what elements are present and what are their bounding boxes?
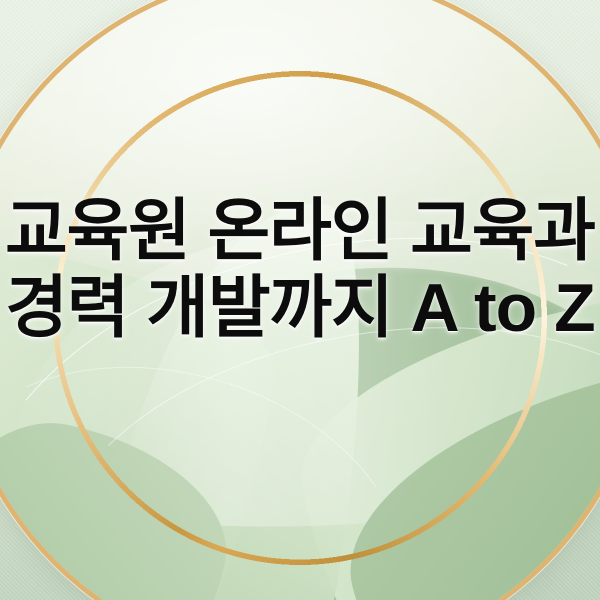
filament-curve-3: [0, 313, 450, 600]
wave-bottom-left-fold: [0, 400, 246, 600]
wave-sweeping-band: [0, 231, 600, 600]
filament-curve-1: [0, 169, 600, 600]
banner-canvas: 교육원 온라인 교육과 경력 개발까지 A to Z: [0, 0, 600, 600]
wave-center-veil: [0, 193, 600, 552]
wave-center-blade: [81, 179, 396, 600]
filament-curve-2: [27, 282, 600, 600]
disc-inner-surface: [0, 0, 600, 600]
wave-right-petal: [280, 283, 600, 600]
wave-left-petal: [0, 228, 283, 600]
decorative-disc: [0, 0, 600, 600]
wave-bottom-right-fold: [319, 359, 600, 600]
